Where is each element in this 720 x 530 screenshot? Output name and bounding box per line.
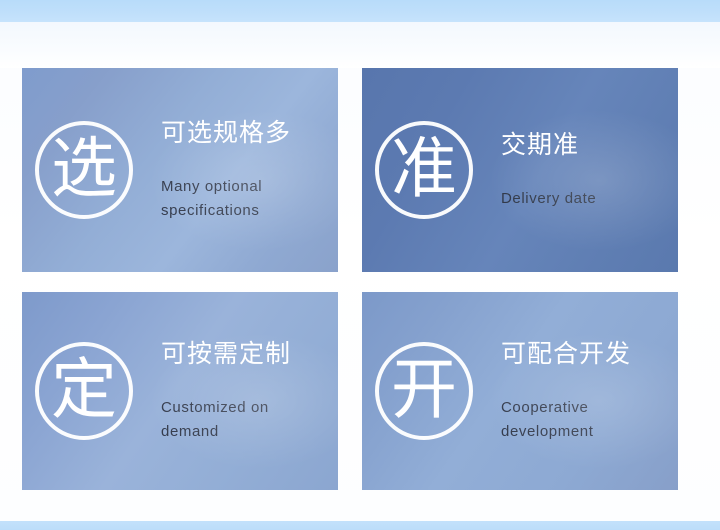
circle-badge-icon: 选 xyxy=(35,121,133,219)
feature-card-text-block: 交期准 Delivery date xyxy=(501,130,678,211)
feature-title-cn: 可配合开发 xyxy=(501,339,664,370)
feature-subtitle-en: Cooperative development xyxy=(501,396,664,443)
badge-character: 选 xyxy=(51,136,117,202)
feature-card-grid: 选 可选规格多 Many optional specifications 准 交… xyxy=(22,68,678,490)
feature-card-text-block: 可选规格多 Many optional specifications xyxy=(161,118,338,222)
circle-badge-icon: 定 xyxy=(35,342,133,440)
feature-title-cn: 可选规格多 xyxy=(161,118,324,149)
feature-card-text-block: 可按需定制 Customized on demand xyxy=(161,339,338,443)
feature-card-cooperative-development[interactable]: 开 可配合开发 Cooperative development xyxy=(362,292,678,490)
bottom-accent-band xyxy=(0,521,720,530)
feature-card-text-block: 可配合开发 Cooperative development xyxy=(501,339,678,443)
promo-feature-page: 选 可选规格多 Many optional specifications 准 交… xyxy=(0,0,720,530)
feature-card-delivery-date[interactable]: 准 交期准 Delivery date xyxy=(362,68,678,272)
feature-subtitle-en: Many optional specifications xyxy=(161,175,324,222)
feature-card-customized-on-demand[interactable]: 定 可按需定制 Customized on demand xyxy=(22,292,338,490)
circle-badge-icon: 开 xyxy=(375,342,473,440)
top-accent-band xyxy=(0,0,720,22)
badge-character: 定 xyxy=(51,357,117,423)
feature-title-cn: 交期准 xyxy=(501,130,664,161)
feature-title-cn: 可按需定制 xyxy=(161,339,324,370)
circle-badge-icon: 准 xyxy=(375,121,473,219)
badge-character: 准 xyxy=(391,136,457,202)
feature-subtitle-en: Customized on demand xyxy=(161,396,324,443)
top-fade-overlay xyxy=(0,22,720,68)
feature-subtitle-en: Delivery date xyxy=(501,187,664,210)
feature-card-optional-specifications[interactable]: 选 可选规格多 Many optional specifications xyxy=(22,68,338,272)
badge-character: 开 xyxy=(391,357,457,423)
